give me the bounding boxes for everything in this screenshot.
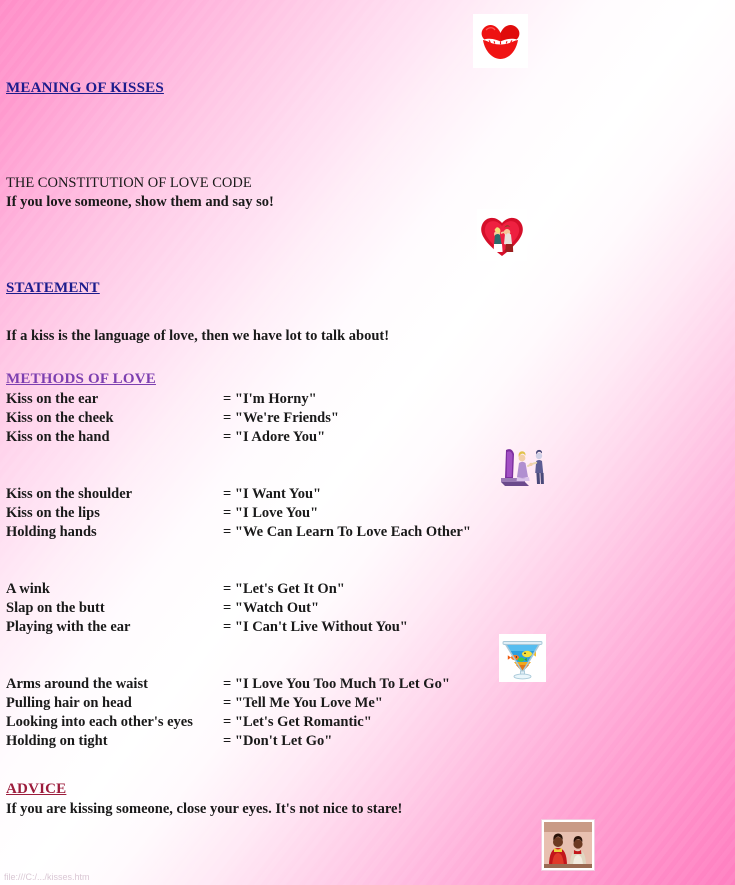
method-meaning: = "I Want You" bbox=[223, 485, 321, 504]
status-footnote: file:///C:/.../kisses.htm bbox=[4, 872, 90, 882]
method-meaning: = "I Love You" bbox=[223, 504, 318, 523]
method-term: Kiss on the ear bbox=[6, 390, 223, 409]
heading-statement: STATEMENT bbox=[6, 280, 100, 297]
method-row: A wink= "Let's Get It On" bbox=[6, 580, 471, 599]
methods-of-love-table: Kiss on the ear= "I'm Horny"Kiss on the … bbox=[6, 390, 471, 751]
method-meaning: = "Watch Out" bbox=[223, 599, 319, 618]
method-term: Pulling hair on head bbox=[6, 694, 223, 713]
lips-kiss-icon bbox=[473, 14, 528, 68]
statement-line: If a kiss is the language of love, then … bbox=[6, 328, 389, 345]
method-row: Kiss on the cheek= "We're Friends" bbox=[6, 409, 471, 428]
heart-couple-icon bbox=[477, 209, 527, 261]
constitution-title: THE CONSTITUTION OF LOVE CODE bbox=[6, 175, 252, 192]
method-group-spacer bbox=[6, 447, 471, 466]
method-meaning: = "I'm Horny" bbox=[223, 390, 317, 409]
heading-methods-of-love: METHODS OF LOVE bbox=[6, 371, 156, 388]
method-row: Kiss on the shoulder= "I Want You" bbox=[6, 485, 471, 504]
method-meaning: = "Let's Get Romantic" bbox=[223, 713, 372, 732]
method-row: Looking into each other's eyes= "Let's G… bbox=[6, 713, 471, 732]
wedding-photo-image bbox=[541, 819, 595, 871]
method-term: Looking into each other's eyes bbox=[6, 713, 223, 732]
heading-advice: ADVICE bbox=[6, 781, 66, 798]
method-term: Holding hands bbox=[6, 523, 223, 542]
method-term: Slap on the butt bbox=[6, 599, 223, 618]
purple-couple-image bbox=[497, 444, 549, 492]
method-term: Arms around the waist bbox=[6, 675, 223, 694]
method-group-spacer bbox=[6, 542, 471, 561]
method-group-spacer bbox=[6, 561, 471, 580]
heading-meaning-of-kisses: MEANING OF KISSES bbox=[6, 80, 164, 97]
lips-kiss-image bbox=[473, 14, 528, 68]
method-meaning: = "Tell Me You Love Me" bbox=[223, 694, 383, 713]
method-row: Arms around the waist= "I Love You Too M… bbox=[6, 675, 471, 694]
method-meaning: = "We Can Learn To Love Each Other" bbox=[223, 523, 471, 542]
method-row: Kiss on the ear= "I'm Horny" bbox=[6, 390, 471, 409]
method-group-spacer bbox=[6, 637, 471, 656]
purple-couple-icon bbox=[497, 444, 549, 492]
method-meaning: = "I Adore You" bbox=[223, 428, 325, 447]
heart-fishbowl-image bbox=[499, 634, 546, 682]
method-meaning: = "Let's Get It On" bbox=[223, 580, 345, 599]
method-row: Holding on tight= "Don't Let Go" bbox=[6, 732, 471, 751]
method-row: Holding hands= "We Can Learn To Love Eac… bbox=[6, 523, 471, 542]
method-term: Kiss on the lips bbox=[6, 504, 223, 523]
method-group-spacer bbox=[6, 466, 471, 485]
method-group-spacer bbox=[6, 656, 471, 675]
method-row: Kiss on the lips= "I Love You" bbox=[6, 504, 471, 523]
method-term: Kiss on the shoulder bbox=[6, 485, 223, 504]
page-root: MEANING OF KISSES THE CONSTITUTION OF LO… bbox=[0, 0, 735, 885]
method-term: A wink bbox=[6, 580, 223, 599]
wedding-photo-icon bbox=[542, 820, 594, 870]
method-meaning: = "I Love You Too Much To Let Go" bbox=[223, 675, 450, 694]
method-row: Kiss on the hand= "I Adore You" bbox=[6, 428, 471, 447]
heart-fishbowl-icon bbox=[499, 634, 546, 682]
constitution-line: If you love someone, show them and say s… bbox=[6, 194, 274, 211]
advice-line: If you are kissing someone, close your e… bbox=[6, 801, 402, 818]
method-row: Playing with the ear= "I Can't Live With… bbox=[6, 618, 471, 637]
method-meaning: = "Don't Let Go" bbox=[223, 732, 332, 751]
method-term: Playing with the ear bbox=[6, 618, 223, 637]
method-term: Kiss on the hand bbox=[6, 428, 223, 447]
method-row: Pulling hair on head= "Tell Me You Love … bbox=[6, 694, 471, 713]
method-row: Slap on the butt= "Watch Out" bbox=[6, 599, 471, 618]
heart-couple-image bbox=[477, 209, 527, 261]
method-term: Holding on tight bbox=[6, 732, 223, 751]
method-term: Kiss on the cheek bbox=[6, 409, 223, 428]
method-meaning: = "I Can't Live Without You" bbox=[223, 618, 408, 637]
method-meaning: = "We're Friends" bbox=[223, 409, 339, 428]
